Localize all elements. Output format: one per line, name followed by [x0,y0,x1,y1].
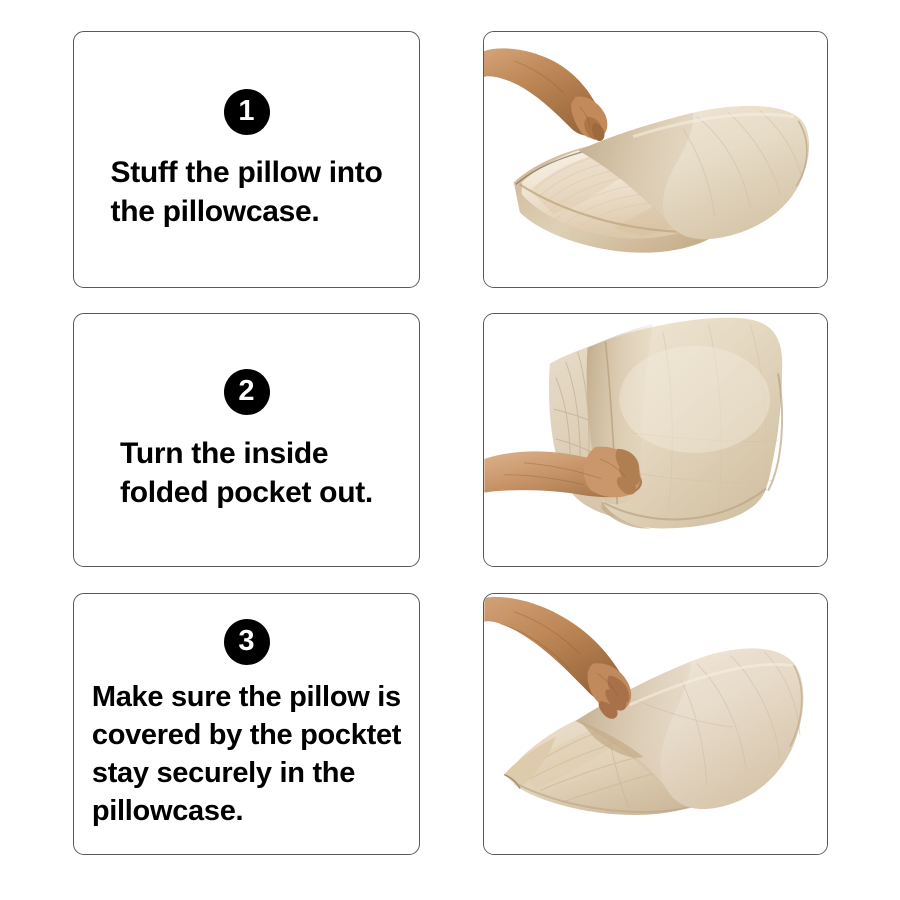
step-3-instruction: Make sure the pillow is covered by the p… [92,678,401,830]
step-number-badge-3: 3 [224,619,270,665]
step-1-instruction: Stuff the pillow into the pillowcase. [111,153,383,231]
step-1-text-card: 1 Stuff the pillow into the pillowcase. [73,31,420,288]
step-2-photo-card [483,313,828,567]
step-number-badge-1: 1 [224,89,270,135]
step-3-photo-card [483,593,828,855]
photo-stuff-pillow [484,32,827,287]
step-2-text-card: 2 Turn the inside folded pocket out. [73,313,420,567]
instruction-sheet: 1 Stuff the pillow into the pillowcase. [0,0,900,900]
step-3-text-card: 3 Make sure the pillow is covered by the… [73,593,420,855]
photo-covered-pillow [484,594,827,854]
step-1-photo-card [483,31,828,288]
step-number-badge-2: 2 [224,369,270,415]
photo-turn-pocket [484,314,827,566]
step-2-instruction: Turn the inside folded pocket out. [120,434,373,512]
